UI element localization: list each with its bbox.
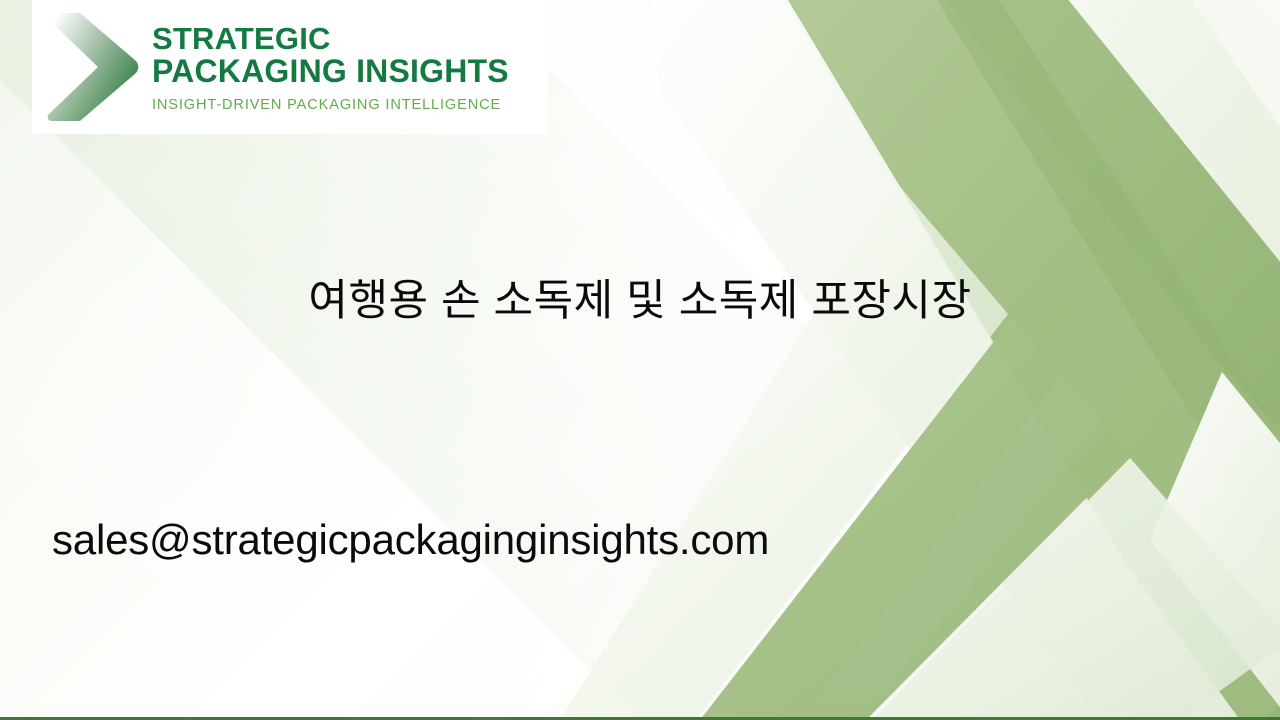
logo-name-line-1: STRATEGIC: [152, 23, 509, 55]
title-slide: STRATEGIC PACKAGING INSIGHTS INSIGHT-DRI…: [0, 0, 1280, 720]
contact-email[interactable]: sales@strategicpackaginginsights.com: [52, 516, 769, 564]
logo-name-line-2: PACKAGING INSIGHTS: [152, 55, 509, 88]
chevron-right-icon: [36, 5, 146, 129]
logo-tagline: INSIGHT-DRIVEN PACKAGING INTELLIGENCE: [152, 97, 509, 113]
page-title: 여행용 손 소독제 및 소독제 포장시장: [0, 275, 1280, 329]
logo-wordmark: STRATEGIC PACKAGING INSIGHTS INSIGHT-DRI…: [152, 21, 509, 113]
logo-plate: STRATEGIC PACKAGING INSIGHTS INSIGHT-DRI…: [32, 0, 548, 134]
